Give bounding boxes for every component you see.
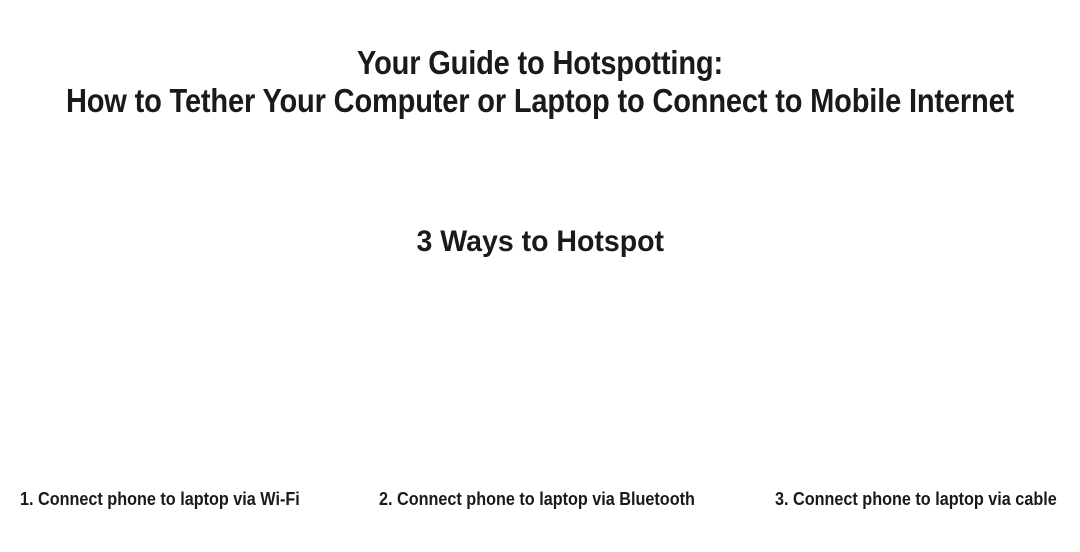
page-title-line-2: How to Tether Your Computer or Laptop to… — [65, 82, 1015, 120]
infographic-page: Your Guide to Hotspotting: How to Tether… — [0, 0, 1080, 552]
illustration-band — [0, 280, 1080, 480]
caption-wifi: 1. Connect phone to laptop via Wi-Fi — [20, 487, 300, 511]
illustration-slot-wifi — [0, 280, 340, 480]
section-heading: 3 Ways to Hotspot — [0, 224, 1080, 260]
page-title-line-1: Your Guide to Hotspotting: — [65, 44, 1015, 82]
caption-bluetooth: 2. Connect phone to laptop via Bluetooth — [379, 487, 695, 511]
illustration-slot-cable — [740, 280, 1080, 480]
caption-cable: 3. Connect phone to laptop via cable — [775, 487, 1057, 511]
section-heading-text: 3 Ways to Hotspot — [416, 224, 664, 260]
caption-row: 1. Connect phone to laptop via Wi-Fi 2. … — [0, 487, 1080, 517]
page-title: Your Guide to Hotspotting: How to Tether… — [0, 44, 1080, 120]
illustration-slot-bluetooth — [370, 280, 710, 480]
